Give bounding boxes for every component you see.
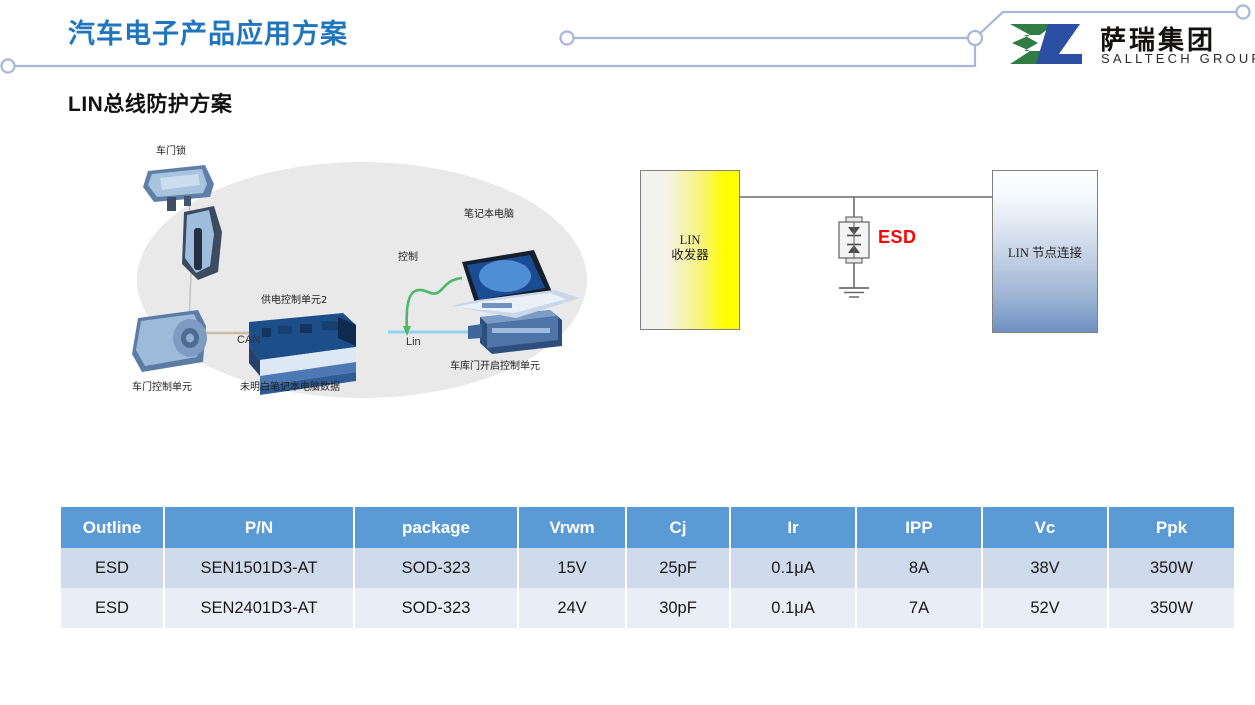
spec-table: Outline P/N package Vrwm Cj Ir IPP Vc Pp… bbox=[61, 507, 1200, 628]
col-header-pn: P/N bbox=[164, 507, 354, 548]
label-door-lock: 车门锁 bbox=[156, 142, 186, 157]
lin-node-box: LIN 节点连接 bbox=[992, 170, 1098, 333]
label-power-control-unit-2: 供电控制单元2 bbox=[261, 291, 327, 306]
col-header-ppk: Ppk bbox=[1108, 507, 1234, 548]
lin-transceiver-box: LIN 收发器 bbox=[640, 170, 740, 330]
door-control-unit-device bbox=[132, 310, 207, 372]
cell-cj: 25pF bbox=[626, 548, 730, 588]
cell-pn: SEN2401D3-AT bbox=[164, 588, 354, 628]
table-header-row: Outline P/N package Vrwm Cj Ir IPP Vc Pp… bbox=[61, 507, 1234, 548]
lin-protection-schematic: LIN 收发器 LIN 节点连接 ESD bbox=[620, 155, 1120, 355]
deco-node-right bbox=[1237, 6, 1250, 19]
company-logo: 萨瑞集团 SALLTECH GROUP bbox=[1008, 18, 1243, 72]
cell-ppk: 350W bbox=[1108, 548, 1234, 588]
label-lin: Lin bbox=[406, 336, 421, 348]
label-laptop: 笔记本电脑 bbox=[464, 205, 514, 220]
cell-ipp: 8A bbox=[856, 548, 982, 588]
col-header-package: package bbox=[354, 507, 518, 548]
cell-package: SOD-323 bbox=[354, 548, 518, 588]
cell-ipp: 7A bbox=[856, 588, 982, 628]
label-can: CAN bbox=[237, 334, 260, 346]
cell-ppk: 350W bbox=[1108, 588, 1234, 628]
deco-node-mid bbox=[561, 32, 574, 45]
deco-node-left bbox=[2, 60, 15, 73]
cell-cj: 30pF bbox=[626, 588, 730, 628]
esd-callout-label: ESD bbox=[878, 227, 917, 248]
cell-ir: 0.1μA bbox=[730, 588, 856, 628]
cell-outline: ESD bbox=[61, 588, 164, 628]
cell-vrwm: 24V bbox=[518, 588, 626, 628]
cell-pn: SEN1501D3-AT bbox=[164, 548, 354, 588]
label-garage-door-unit: 车库门开启控制单元 bbox=[450, 357, 540, 372]
ground-symbol bbox=[839, 288, 869, 297]
label-control: 控制 bbox=[398, 248, 418, 263]
col-header-cj: Cj bbox=[626, 507, 730, 548]
cell-vc: 38V bbox=[982, 548, 1108, 588]
table-row: ESD SEN1501D3-AT SOD-323 15V 25pF 0.1μA … bbox=[61, 548, 1234, 588]
cell-vrwm: 15V bbox=[518, 548, 626, 588]
section-subtitle: LIN总线防护方案 bbox=[68, 88, 232, 118]
door-actuator-device bbox=[182, 206, 222, 280]
cell-ir: 0.1μA bbox=[730, 548, 856, 588]
logo-text-en: SALLTECH GROUP bbox=[1101, 51, 1255, 66]
lin-transceiver-line1: LIN bbox=[680, 233, 701, 247]
esd-tvs-symbol bbox=[839, 217, 869, 263]
cell-outline: ESD bbox=[61, 548, 164, 588]
cell-package: SOD-323 bbox=[354, 588, 518, 628]
col-header-vc: Vc bbox=[982, 507, 1108, 548]
lin-network-illustration: 车门锁 车门控制单元 CAN 供电控制单元2 未明白笔记本电脑数据 控制 笔记本… bbox=[110, 140, 610, 410]
lin-transceiver-line2: 收发器 bbox=[671, 248, 709, 262]
lin-node-label: LIN 节点连接 bbox=[993, 246, 1097, 261]
label-laptop-data: 未明白笔记本电脑数据 bbox=[240, 378, 340, 393]
cell-vc: 52V bbox=[982, 588, 1108, 628]
col-header-ipp: IPP bbox=[856, 507, 982, 548]
col-header-vrwm: Vrwm bbox=[518, 507, 626, 548]
slide-canvas: 汽车电子产品应用方案 LIN总线防护方案 萨瑞集团 SALLTECH GROUP bbox=[0, 0, 1255, 705]
table-row: ESD SEN2401D3-AT SOD-323 24V 30pF 0.1μA … bbox=[61, 588, 1234, 628]
col-header-ir: Ir bbox=[730, 507, 856, 548]
page-title: 汽车电子产品应用方案 bbox=[68, 12, 348, 51]
salltech-logo-icon bbox=[1008, 22, 1090, 66]
deco-node-junction bbox=[968, 31, 982, 45]
col-header-outline: Outline bbox=[61, 507, 164, 548]
label-door-control-unit: 车门控制单元 bbox=[132, 378, 192, 393]
